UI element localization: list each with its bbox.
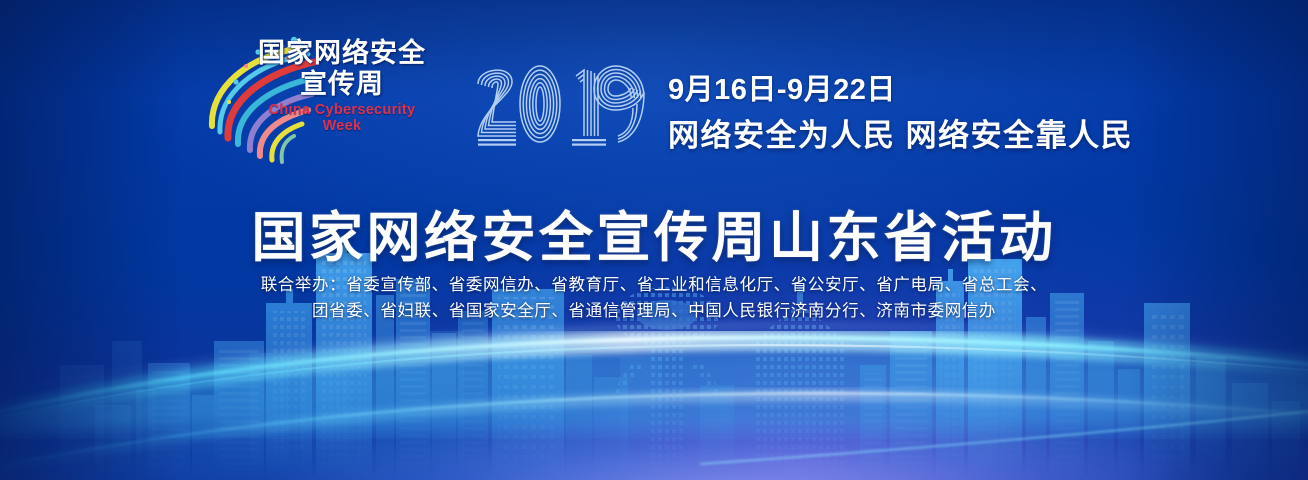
- logo-english-text: China Cybersecurity Week: [252, 102, 432, 134]
- logo-wordmark: 国家网络安全 宣传周 China Cybersecurity Week: [252, 38, 432, 134]
- logo-line2: 宣传周: [252, 69, 432, 100]
- cybersecurity-week-banner: 国家网络安全 宣传周 China Cybersecurity Week: [0, 0, 1308, 480]
- organizers-line-1: 联合举办：省委宣传部、省委网信办、省教育厅、省工业和信息化厅、省公安厅、省广电局…: [0, 272, 1308, 298]
- event-date-range: 9月16日-9月22日: [668, 66, 896, 108]
- organizers-block: 联合举办：省委宣传部、省委网信办、省教育厅、省工业和信息化厅、省公安厅、省广电局…: [0, 272, 1308, 324]
- logo-line1: 国家网络安全: [252, 38, 432, 69]
- year-2019-graphic: [472, 58, 652, 160]
- page-title: 国家网络安全宣传周山东省活动: [0, 193, 1308, 272]
- organizers-line-2: 团省委、省妇联、省国家安全厅、省通信管理局、中国人民银行济南分行、济南市委网信办: [0, 298, 1308, 324]
- cybersecurity-week-logo[interactable]: 国家网络安全 宣传周 China Cybersecurity Week: [196, 32, 432, 164]
- event-slogan: 网络安全为人民 网络安全靠人民: [668, 110, 1133, 155]
